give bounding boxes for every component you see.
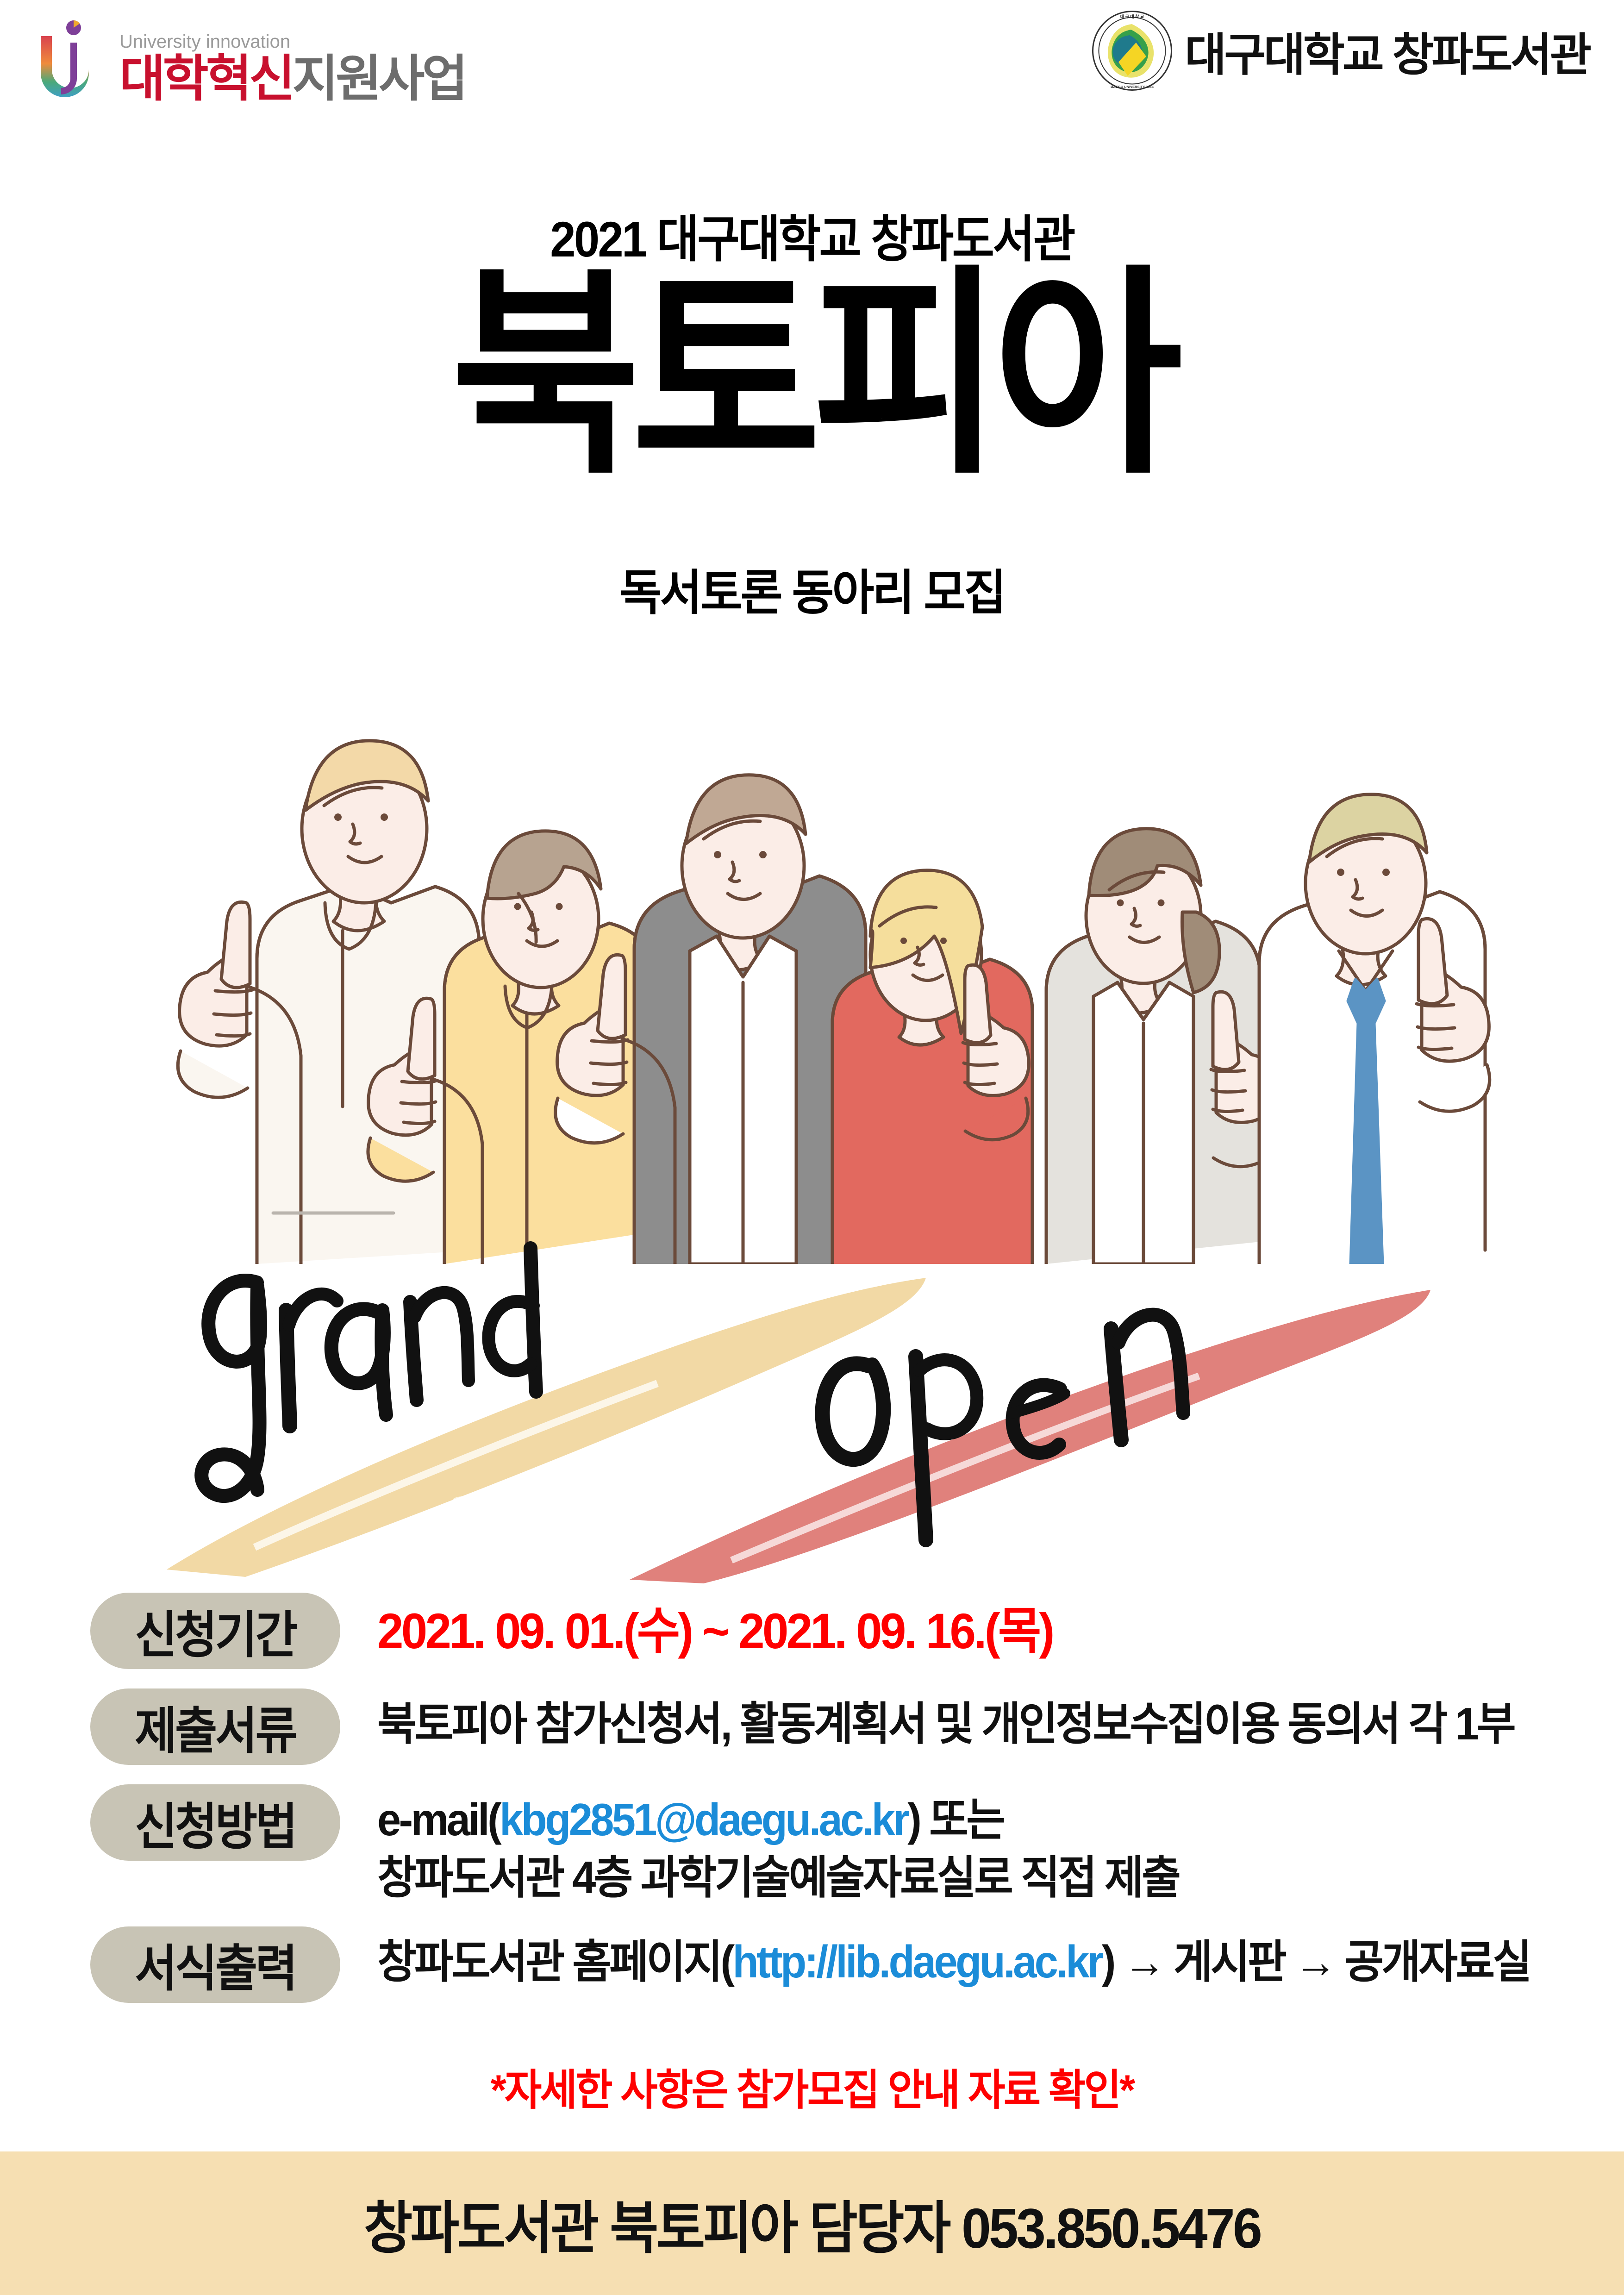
value-application-period: 2021. 09. 01.(수) ~ 2021. 09. 16.(목) <box>340 1593 1549 1663</box>
email-prefix: e-mail( <box>377 1794 500 1845</box>
value-form-download: 창파도서관 홈페이지(http://lib.daegu.ac.kr) → 게시판… <box>340 1926 1603 1991</box>
label-text: 신청기간 <box>135 1595 295 1667</box>
form-download-line: 창파도서관 홈페이지(http://lib.daegu.ac.kr) → 게시판… <box>377 1933 1530 1991</box>
label-pill-required-documents: 제출서류 <box>90 1688 340 1765</box>
footer-contact-bar: 창파도서관 북토피아 담당자 053.850.5476 <box>0 2151 1624 2295</box>
email-suffix: ) 또는 <box>907 1794 1003 1845</box>
footer-contact-text: 창파도서관 북토피아 담당자 053.850.5476 <box>364 2182 1260 2264</box>
label-text: 제출서류 <box>135 1691 295 1763</box>
university-innovation-logo-icon <box>32 14 111 106</box>
svg-text:대 구 대 학 교: 대 구 대 학 교 <box>1120 14 1144 19</box>
logo-eng-text: University innovation <box>119 32 465 51</box>
homepage-prefix: 창파도서관 홈페이지( <box>377 1936 732 1987</box>
email-address-link[interactable]: kbg2851@daegu.ac.kr <box>500 1794 907 1845</box>
info-row-application-period: 신청기간 2021. 09. 01.(수) ~ 2021. 09. 16.(목) <box>90 1593 1549 1669</box>
logo-kor-text: 대학혁신지원사업 <box>119 54 465 104</box>
grand-open-brush-lettering <box>139 1204 1505 1583</box>
library-name-text: 대구대학교 창파도서관 <box>1185 18 1589 84</box>
label-pill-form-download: 서식출력 <box>90 1926 340 2003</box>
info-row-form-download: 서식출력 창파도서관 홈페이지(http://lib.daegu.ac.kr) … <box>90 1926 1549 2003</box>
label-pill-application-method: 신청방법 <box>90 1784 340 1861</box>
poster-root: University innovation 대학혁신지원사업 대 구 대 학 교… <box>0 0 1624 2295</box>
value-application-method: e-mail(kbg2851@daegu.ac.kr) 또는 창파도서관 4층 … <box>340 1784 1549 1907</box>
person-5 <box>1046 829 1277 1264</box>
daegu-university-emblem-icon: 대 구 대 학 교 DAEGU UNIVERSITY 1956 <box>1092 10 1173 91</box>
application-method-line-1: e-mail(kbg2851@daegu.ac.kr) 또는 <box>377 1791 1478 1849</box>
svg-text:DAEGU UNIVERSITY 1956: DAEGU UNIVERSITY 1956 <box>1111 85 1154 89</box>
poster-main-title: 북토피아 <box>57 264 1567 486</box>
label-pill-application-period: 신청기간 <box>90 1593 340 1669</box>
label-text: 신청방법 <box>135 1787 295 1859</box>
info-row-application-method: 신청방법 e-mail(kbg2851@daegu.ac.kr) 또는 창파도서… <box>90 1784 1549 1907</box>
homepage-path: ) → 게시판 → 공개자료실 <box>1102 1936 1530 1987</box>
info-row-required-documents: 제출서류 북토피아 참가신청서, 활동계획서 및 개인정보수집이용 동의서 각 … <box>90 1688 1549 1765</box>
logo-kor-red: 대학혁신 <box>119 50 292 106</box>
university-innovation-logo: University innovation 대학혁신지원사업 <box>32 14 465 106</box>
detail-note: *자세한 사항은 참가모집 안내 자료 확인* <box>41 2056 1584 2117</box>
label-text: 서식출력 <box>135 1928 295 2001</box>
required-documents-text: 북토피아 참가신청서, 활동계획서 및 개인정보수집이용 동의서 각 1부 <box>377 1695 1514 1753</box>
application-period-text: 2021. 09. 01.(수) ~ 2021. 09. 16.(목) <box>377 1599 1478 1663</box>
library-homepage-link[interactable]: http://lib.daegu.ac.kr <box>732 1936 1101 1987</box>
six-people-thumbs-up-illustration <box>139 607 1518 1264</box>
daegu-university-library-logo: 대 구 대 학 교 DAEGU UNIVERSITY 1956 대구대학교 창파… <box>1092 10 1589 91</box>
logo-kor-gray: 지원사업 <box>292 50 465 106</box>
application-method-line-2: 창파도서관 4층 과학기술예술자료실로 직접 제출 <box>377 1849 1478 1907</box>
value-required-documents: 북토피아 참가신청서, 활동계획서 및 개인정보수집이용 동의서 각 1부 <box>340 1688 1587 1753</box>
info-section: 신청기간 2021. 09. 01.(수) ~ 2021. 09. 16.(목)… <box>90 1593 1549 2022</box>
person-6 <box>1259 794 1490 1264</box>
